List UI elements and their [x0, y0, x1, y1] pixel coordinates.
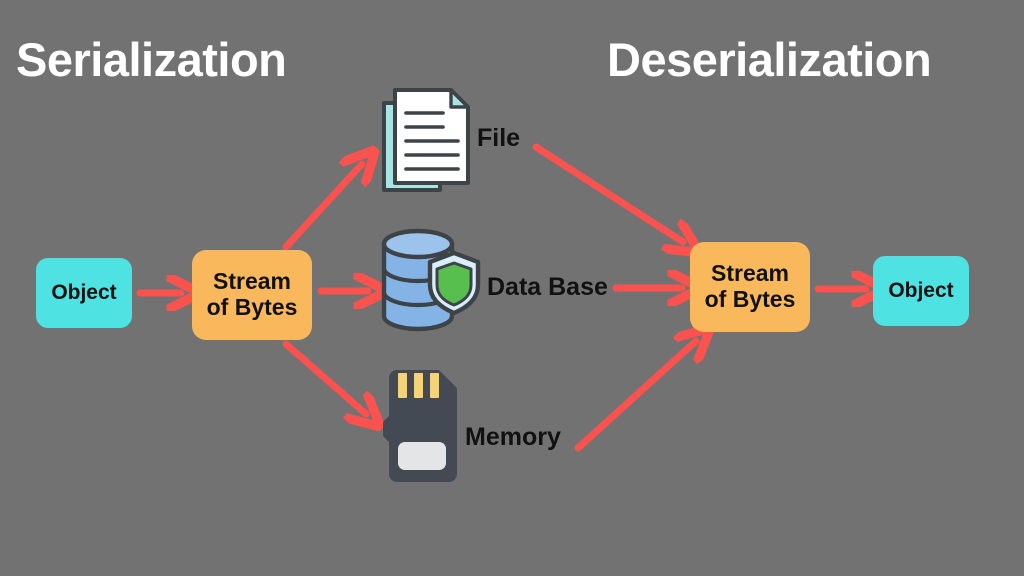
shield-icon — [430, 253, 478, 313]
node-object-left-label: Object — [51, 281, 116, 305]
document-stack-icon[interactable] — [368, 84, 478, 196]
storage-label-database: Data Base — [487, 275, 608, 300]
diagram-canvas: Serialization Deserialization — [0, 0, 1024, 576]
memory-card-contacts — [398, 373, 439, 398]
node-stream-of-bytes-left[interactable]: Stream of Bytes — [192, 250, 312, 340]
file-folded-corner-icon — [451, 90, 468, 107]
node-stream-right-line1: Stream — [705, 261, 796, 287]
node-object-left[interactable]: Object — [36, 258, 132, 328]
page-title-serialization: Serialization — [16, 36, 286, 83]
arrow-stream-to-memory — [286, 344, 366, 414]
memory-card-icon[interactable] — [381, 370, 465, 488]
memory-card-label-patch — [398, 442, 446, 470]
node-stream-left-line2: of Bytes — [207, 295, 298, 321]
arrow-file-to-stream — [536, 147, 683, 242]
node-stream-right-line2: of Bytes — [705, 287, 796, 313]
database-cylinder-shield-icon[interactable] — [374, 226, 486, 334]
storage-label-memory: Memory — [465, 425, 561, 450]
arrow-stream-to-file — [286, 164, 362, 247]
node-stream-of-bytes-right[interactable]: Stream of Bytes — [690, 242, 810, 332]
arrow-memory-to-stream — [578, 341, 696, 448]
node-stream-left-line1: Stream — [207, 269, 298, 295]
node-object-right[interactable]: Object — [873, 256, 969, 326]
node-object-right-label: Object — [888, 279, 953, 303]
page-title-deserialization: Deserialization — [607, 36, 931, 83]
storage-label-file: File — [477, 126, 520, 151]
